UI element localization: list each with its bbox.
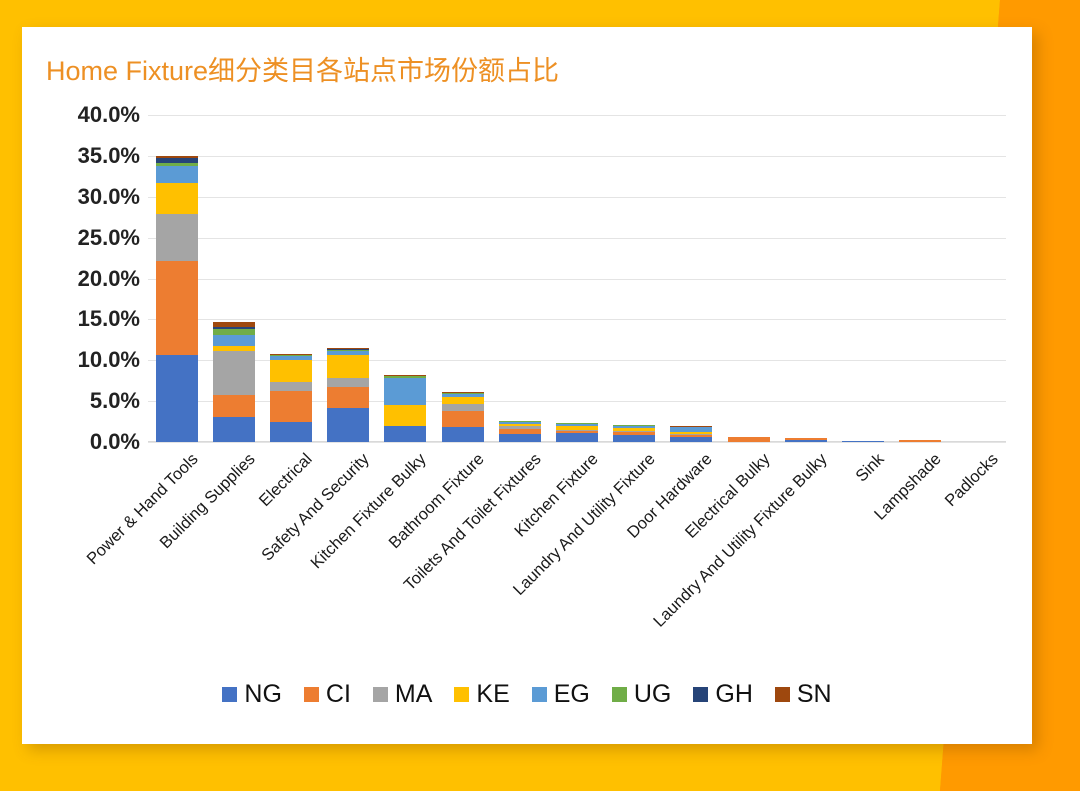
legend-item-ug[interactable]: UG xyxy=(612,682,672,707)
y-axis-tick-label: 35.0% xyxy=(78,143,140,169)
y-axis: 40.0%35.0%30.0%25.0%20.0%15.0%10.0%5.0%0… xyxy=(36,115,140,455)
bar-slot xyxy=(949,115,1006,442)
bar-segment-ke[interactable] xyxy=(384,405,426,425)
legend-swatch-icon xyxy=(693,687,708,702)
legend-item-eg[interactable]: EG xyxy=(532,682,590,707)
legend-label: GH xyxy=(715,682,753,707)
bars-layer xyxy=(148,115,1006,442)
bar-slot xyxy=(720,115,777,442)
bar-segment-ma[interactable] xyxy=(327,378,369,387)
y-axis-tick-label: 20.0% xyxy=(78,266,140,292)
bar-slot xyxy=(434,115,491,442)
legend-label: NG xyxy=(244,682,282,707)
x-axis-category-label: Power & Hand Tools xyxy=(83,450,202,569)
legend-swatch-icon xyxy=(222,687,237,702)
x-axis-labels: Power & Hand ToolsBuilding SuppliesElect… xyxy=(148,442,1006,682)
stacked-bar[interactable] xyxy=(327,348,369,442)
bar-slot xyxy=(148,115,205,442)
stacked-bar[interactable] xyxy=(499,421,541,442)
bar-segment-ng[interactable] xyxy=(270,422,312,442)
bar-segment-ke[interactable] xyxy=(156,183,198,214)
legend-item-ng[interactable]: NG xyxy=(222,682,282,707)
stacked-bar[interactable] xyxy=(556,423,598,442)
bar-segment-eg[interactable] xyxy=(156,166,198,183)
bar-slot xyxy=(892,115,949,442)
legend-label: EG xyxy=(554,682,590,707)
legend-swatch-icon xyxy=(304,687,319,702)
y-axis-tick-label: 0.0% xyxy=(90,429,140,455)
x-axis-category-label: Sink xyxy=(852,450,888,486)
bar-segment-ng[interactable] xyxy=(556,433,598,442)
bar-segment-ng[interactable] xyxy=(442,427,484,442)
bar-slot xyxy=(491,115,548,442)
stacked-bar[interactable] xyxy=(156,156,198,442)
legend-label: MA xyxy=(395,682,433,707)
bar-segment-ci[interactable] xyxy=(327,387,369,407)
stacked-bar[interactable] xyxy=(613,425,655,442)
bar-segment-ke[interactable] xyxy=(327,355,369,379)
legend-label: SN xyxy=(797,682,832,707)
bar-segment-eg[interactable] xyxy=(384,378,426,405)
plot-wrapper: 40.0%35.0%30.0%25.0%20.0%15.0%10.0%5.0%0… xyxy=(22,27,1032,744)
legend-swatch-icon xyxy=(612,687,627,702)
bar-slot xyxy=(205,115,262,442)
bar-slot xyxy=(663,115,720,442)
bar-slot xyxy=(834,115,891,442)
bar-slot xyxy=(606,115,663,442)
bar-segment-ng[interactable] xyxy=(327,408,369,442)
chart-card: Home Fixture细分类目各站点市场份额占比 40.0%35.0%30.0… xyxy=(22,27,1032,744)
y-axis-tick-label: 30.0% xyxy=(78,184,140,210)
bar-segment-ci[interactable] xyxy=(270,391,312,422)
x-axis-category-label: Safety And Security xyxy=(258,450,373,565)
legend-item-sn[interactable]: SN xyxy=(775,682,832,707)
bar-segment-ci[interactable] xyxy=(213,395,255,417)
legend-item-ma[interactable]: MA xyxy=(373,682,433,707)
bar-slot xyxy=(548,115,605,442)
bar-segment-ma[interactable] xyxy=(270,382,312,391)
bar-segment-ng[interactable] xyxy=(613,435,655,442)
legend-swatch-icon xyxy=(532,687,547,702)
y-axis-tick-label: 5.0% xyxy=(90,388,140,414)
bar-segment-ke[interactable] xyxy=(442,397,484,404)
bar-slot xyxy=(320,115,377,442)
legend-swatch-icon xyxy=(373,687,388,702)
bar-slot xyxy=(777,115,834,442)
bar-segment-ng[interactable] xyxy=(499,434,541,442)
y-axis-tick-label: 10.0% xyxy=(78,347,140,373)
legend-label: CI xyxy=(326,682,351,707)
stacked-bar[interactable] xyxy=(213,322,255,442)
y-axis-tick-label: 40.0% xyxy=(78,102,140,128)
stacked-bar[interactable] xyxy=(670,426,712,442)
legend-swatch-icon xyxy=(454,687,469,702)
y-axis-tick-label: 15.0% xyxy=(78,306,140,332)
legend-item-ci[interactable]: CI xyxy=(304,682,351,707)
legend-label: KE xyxy=(476,682,509,707)
legend-item-ke[interactable]: KE xyxy=(454,682,509,707)
x-axis-category-label: Padlocks xyxy=(942,450,1003,511)
bar-segment-ci[interactable] xyxy=(442,411,484,427)
bar-segment-ke[interactable] xyxy=(270,360,312,381)
bar-slot xyxy=(262,115,319,442)
chart-legend: NGCIMAKEEGUGGHSN xyxy=(22,682,1032,707)
stacked-bar[interactable] xyxy=(270,354,312,442)
legend-label: UG xyxy=(634,682,672,707)
bar-segment-ci[interactable] xyxy=(156,261,198,355)
legend-item-gh[interactable]: GH xyxy=(693,682,753,707)
stacked-bar[interactable] xyxy=(442,392,484,442)
bar-segment-eg[interactable] xyxy=(213,335,255,346)
bar-segment-ma[interactable] xyxy=(213,351,255,395)
y-axis-tick-label: 25.0% xyxy=(78,225,140,251)
plot-area xyxy=(148,115,1006,442)
stacked-bar[interactable] xyxy=(384,375,426,442)
bar-segment-ng[interactable] xyxy=(384,426,426,442)
legend-swatch-icon xyxy=(775,687,790,702)
bar-segment-ma[interactable] xyxy=(156,214,198,261)
bar-segment-ng[interactable] xyxy=(156,355,198,442)
bar-segment-ng[interactable] xyxy=(213,417,255,442)
bar-slot xyxy=(377,115,434,442)
